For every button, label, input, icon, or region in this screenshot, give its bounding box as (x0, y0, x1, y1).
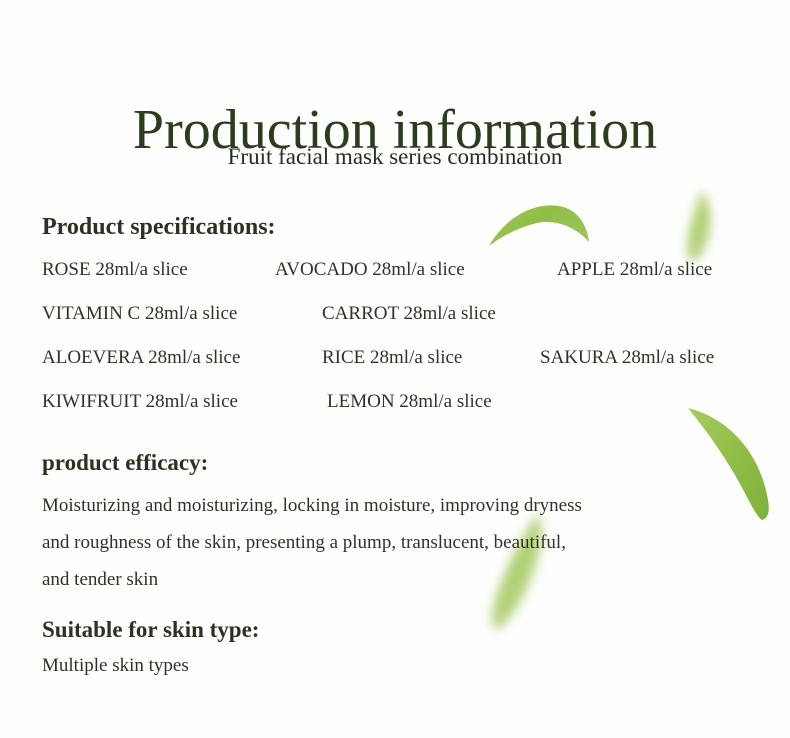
spec-row: VITAMIN C 28ml/a slice CARROT 28ml/a sli… (0, 302, 790, 346)
spec-item: VITAMIN C 28ml/a slice (42, 302, 237, 326)
spec-row: KIWIFRUIT 28ml/a slice LEMON 28ml/a slic… (0, 390, 790, 434)
spec-item: AVOCADO 28ml/a slice (275, 258, 465, 282)
spec-item: SAKURA 28ml/a slice (540, 346, 714, 370)
leaf-arc-icon (487, 196, 591, 252)
section-heading-specifications: Product specifications: (42, 212, 276, 242)
spec-item: ROSE 28ml/a slice (42, 258, 188, 282)
efficacy-line: and roughness of the skin, presenting a … (42, 524, 754, 561)
efficacy-line: Moisturizing and moisturizing, locking i… (42, 487, 754, 524)
skin-type-value: Multiple skin types (42, 653, 189, 679)
section-heading-efficacy: product efficacy: (42, 448, 208, 477)
page-subtitle: Fruit facial mask series combination (0, 143, 790, 171)
spec-item: KIWIFRUIT 28ml/a slice (42, 390, 238, 414)
spec-item: RICE 28ml/a slice (322, 346, 462, 370)
specifications-list: ROSE 28ml/a slice AVOCADO 28ml/a slice A… (0, 258, 790, 434)
spec-item: ALOEVERA 28ml/a slice (42, 346, 240, 370)
spec-item: CARROT 28ml/a slice (322, 302, 496, 326)
spec-row: ROSE 28ml/a slice AVOCADO 28ml/a slice A… (0, 258, 790, 302)
spec-item: APPLE 28ml/a slice (557, 258, 712, 282)
leaf-blurred-top-right-icon (678, 188, 722, 264)
spec-item: LEMON 28ml/a slice (327, 390, 492, 414)
efficacy-line: and tender skin (42, 561, 754, 598)
spec-row: ALOEVERA 28ml/a slice RICE 28ml/a slice … (0, 346, 790, 390)
section-heading-skin-type: Suitable for skin type: (42, 615, 259, 644)
product-information-page: Production information Fruit facial mask… (0, 0, 790, 738)
efficacy-body-text: Moisturizing and moisturizing, locking i… (42, 487, 754, 598)
